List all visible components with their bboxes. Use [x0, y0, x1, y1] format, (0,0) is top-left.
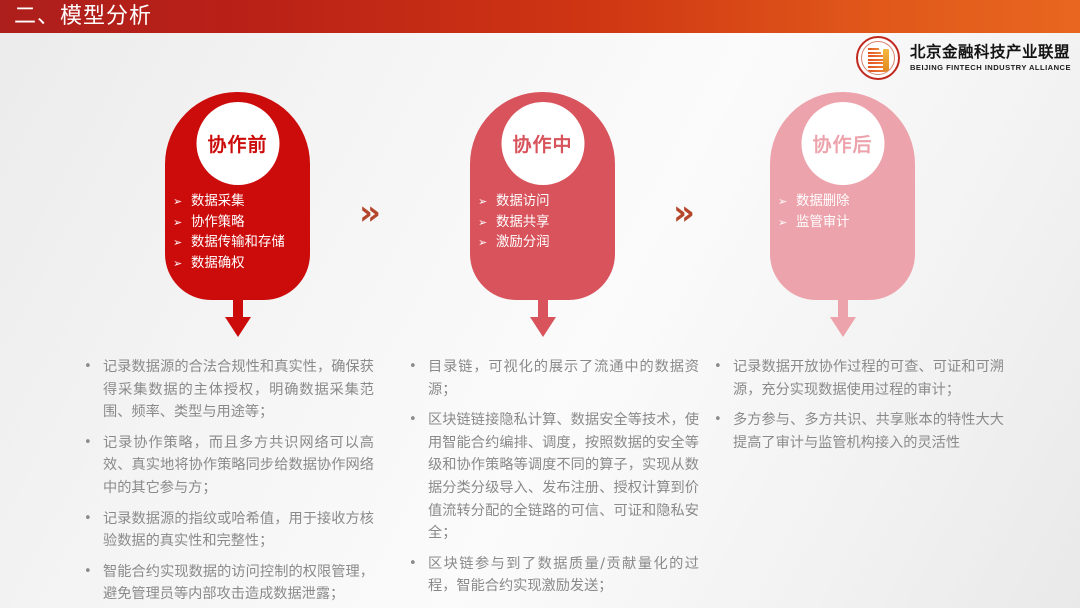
arrow-bullet-icon: ➢	[173, 254, 191, 275]
list-item-label: 数据共享	[496, 213, 550, 234]
arrow-bullet-icon: ➢	[778, 192, 796, 213]
list-item: •区块链参与到了数据质量/贡献量化的过程，智能合约实现激励发送；	[409, 553, 699, 598]
stage-items-during: ➢数据访问 ➢数据共享 ➢激励分润	[478, 192, 611, 254]
bullet-icon: •	[409, 409, 428, 432]
list-item: ➢数据确权	[173, 254, 306, 275]
list-item-label: 数据确权	[191, 254, 245, 275]
bullet-icon: •	[84, 432, 103, 455]
list-item: •记录数据开放协作过程的可查、可证和可溯源，充分实现数据使用过程的审计；	[714, 356, 1004, 401]
list-item: •区块链链接隐私计算、数据安全等技术，使用智能合约编排、调度，按照数据的安全等级…	[409, 409, 699, 545]
list-item-label: 协作策略	[191, 213, 245, 234]
down-arrow-icon	[225, 295, 251, 337]
list-item-label: 数据采集	[191, 192, 245, 213]
list-item-label: 数据传输和存储	[191, 233, 285, 254]
list-item: ➢数据采集	[173, 192, 306, 213]
bullet-icon: •	[409, 553, 428, 576]
chevron-right-icon: »	[673, 196, 691, 230]
bullet-icon: •	[714, 409, 733, 432]
down-arrow-icon	[530, 295, 556, 337]
list-item: •记录数据源的指纹或哈希值，用于接收方核验数据的真实性和完整性；	[84, 508, 374, 553]
list-item: ➢数据共享	[478, 213, 611, 234]
detail-column-after: •记录数据开放协作过程的可查、可证和可溯源，充分实现数据使用过程的审计； •多方…	[714, 356, 1004, 462]
detail-list: •目录链，可视化的展示了流通中的数据资源； •区块链链接隐私计算、数据安全等技术…	[409, 356, 699, 598]
brand-name-en: BEIJING FINTECH INDUSTRY ALLIANCE	[910, 62, 1071, 73]
list-item-text: 目录链，可视化的展示了流通中的数据资源；	[428, 356, 699, 401]
list-item: ➢数据删除	[778, 192, 911, 213]
list-item-label: 监管审计	[796, 213, 850, 234]
seal-tower-icon	[883, 49, 889, 71]
alliance-seal-icon	[855, 35, 901, 81]
arrow-bullet-icon: ➢	[173, 233, 191, 254]
arrow-bullet-icon: ➢	[478, 192, 496, 213]
header-bar	[0, 0, 1080, 33]
detail-list: •记录数据源的合法合规性和真实性，确保获得采集数据的主体授权，明确数据采集范围、…	[84, 356, 374, 606]
arrow-bullet-icon: ➢	[173, 213, 191, 234]
list-item-text: 多方参与、多方共识、共享账本的特性大大提高了审计与监管机构接入的灵活性	[733, 409, 1004, 454]
list-item: ➢数据访问	[478, 192, 611, 213]
stage-label-before: 协作前	[207, 130, 267, 157]
list-item: •记录协作策略，而且多方共识网络可以高效、真实地将协作策略同步给数据协作网络中的…	[84, 432, 374, 500]
stage-label-after: 协作后	[812, 130, 872, 157]
seal-inner-disc	[861, 41, 895, 75]
list-item: •智能合约实现数据的访问控制的权限管理，避免管理员等内部攻击造成数据泄露；	[84, 561, 374, 606]
brand-name-cn: 北京金融科技产业联盟	[910, 43, 1071, 62]
list-item: •多方参与、多方共识、共享账本的特性大大提高了审计与监管机构接入的灵活性	[714, 409, 1004, 454]
list-item-text: 记录协作策略，而且多方共识网络可以高效、真实地将协作策略同步给数据协作网络中的其…	[103, 432, 374, 500]
bullet-icon: •	[409, 356, 428, 379]
list-item: •目录链，可视化的展示了流通中的数据资源；	[409, 356, 699, 401]
stage-badge-during: 协作中	[501, 102, 584, 185]
stage-capsule-before[interactable]: 协作前 ➢数据采集 ➢协作策略 ➢数据传输和存储 ➢数据确权	[165, 92, 310, 300]
arrow-bullet-icon: ➢	[478, 233, 496, 254]
page-title: 二、模型分析	[14, 2, 152, 32]
arrow-bullet-icon: ➢	[478, 213, 496, 234]
list-item: ➢监管审计	[778, 213, 911, 234]
list-item-label: 数据访问	[496, 192, 550, 213]
bullet-icon: •	[84, 508, 103, 531]
list-item: ➢激励分润	[478, 233, 611, 254]
list-item-text: 区块链链接隐私计算、数据安全等技术，使用智能合约编排、调度，按照数据的安全等级和…	[428, 409, 699, 545]
list-item: •记录数据源的合法合规性和真实性，确保获得采集数据的主体授权，明确数据采集范围、…	[84, 356, 374, 424]
list-item: ➢协作策略	[173, 213, 306, 234]
stage-badge-after: 协作后	[801, 102, 884, 185]
detail-column-during: •目录链，可视化的展示了流通中的数据资源； •区块链链接隐私计算、数据安全等技术…	[409, 356, 699, 606]
stage-capsule-during[interactable]: 协作中 ➢数据访问 ➢数据共享 ➢激励分润	[470, 92, 615, 300]
list-item-text: 区块链参与到了数据质量/贡献量化的过程，智能合约实现激励发送；	[428, 553, 699, 598]
bullet-icon: •	[84, 561, 103, 584]
slide-canvas: 二、模型分析 北京金融科技产业联盟 BEIJING FINTECH INDUST…	[0, 0, 1080, 608]
detail-column-before: •记录数据源的合法合规性和真实性，确保获得采集数据的主体授权，明确数据采集范围、…	[84, 356, 374, 608]
bullet-icon: •	[84, 356, 103, 379]
list-item-label: 数据删除	[796, 192, 850, 213]
bullet-icon: •	[714, 356, 733, 379]
stage-capsule-after[interactable]: 协作后 ➢数据删除 ➢监管审计	[770, 92, 915, 300]
chevron-right-icon: »	[359, 196, 377, 230]
down-arrow-icon	[830, 295, 856, 337]
brand-logo: 北京金融科技产业联盟 BEIJING FINTECH INDUSTRY ALLI…	[855, 33, 1070, 83]
list-item-text: 记录数据源的合法合规性和真实性，确保获得采集数据的主体授权，明确数据采集范围、频…	[103, 356, 374, 424]
list-item-text: 记录数据开放协作过程的可查、可证和可溯源，充分实现数据使用过程的审计；	[733, 356, 1004, 401]
list-item-text: 记录数据源的指纹或哈希值，用于接收方核验数据的真实性和完整性；	[103, 508, 374, 553]
stage-items-before: ➢数据采集 ➢协作策略 ➢数据传输和存储 ➢数据确权	[173, 192, 306, 274]
list-item: ➢数据传输和存储	[173, 233, 306, 254]
arrow-bullet-icon: ➢	[173, 192, 191, 213]
stage-items-after: ➢数据删除 ➢监管审计	[778, 192, 911, 233]
list-item-label: 激励分润	[496, 233, 550, 254]
brand-text: 北京金融科技产业联盟 BEIJING FINTECH INDUSTRY ALLI…	[910, 43, 1071, 73]
arrow-bullet-icon: ➢	[778, 213, 796, 234]
stage-label-during: 协作中	[512, 130, 572, 157]
detail-list: •记录数据开放协作过程的可查、可证和可溯源，充分实现数据使用过程的审计； •多方…	[714, 356, 1004, 454]
list-item-text: 智能合约实现数据的访问控制的权限管理，避免管理员等内部攻击造成数据泄露；	[103, 561, 374, 606]
stage-badge-before: 协作前	[196, 102, 279, 185]
